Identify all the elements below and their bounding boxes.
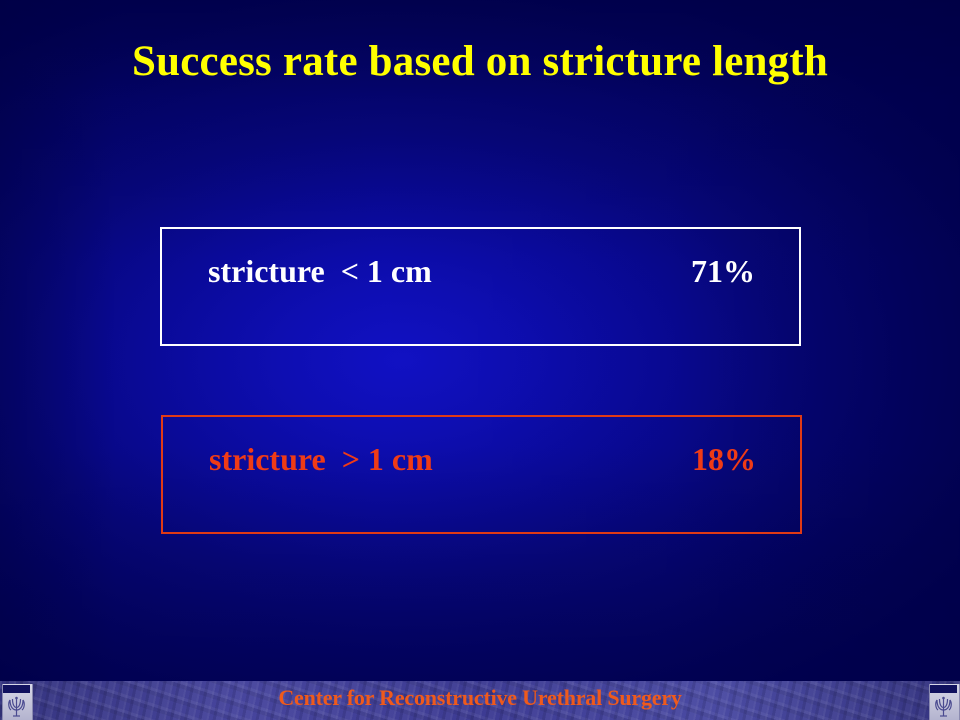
slide-footer: Center for Reconstructive Urethral Surge… bbox=[0, 681, 960, 720]
result-label-long-stricture: stricture > 1 cm bbox=[209, 439, 433, 479]
result-value-short-stricture: 71% bbox=[691, 251, 755, 291]
result-value-long-stricture: 18% bbox=[692, 439, 756, 479]
result-box-long-stricture: stricture > 1 cm 18% bbox=[161, 415, 802, 534]
presentation-slide: Success rate based on stricture length s… bbox=[0, 0, 960, 720]
footer-title: Center for Reconstructive Urethral Surge… bbox=[0, 683, 960, 713]
result-label-short-stricture: stricture < 1 cm bbox=[208, 251, 432, 291]
slide-background-vignette-horizontal bbox=[0, 0, 960, 720]
result-box-short-stricture: stricture < 1 cm 71% bbox=[160, 227, 801, 346]
slide-title: Success rate based on stricture length bbox=[0, 36, 960, 88]
